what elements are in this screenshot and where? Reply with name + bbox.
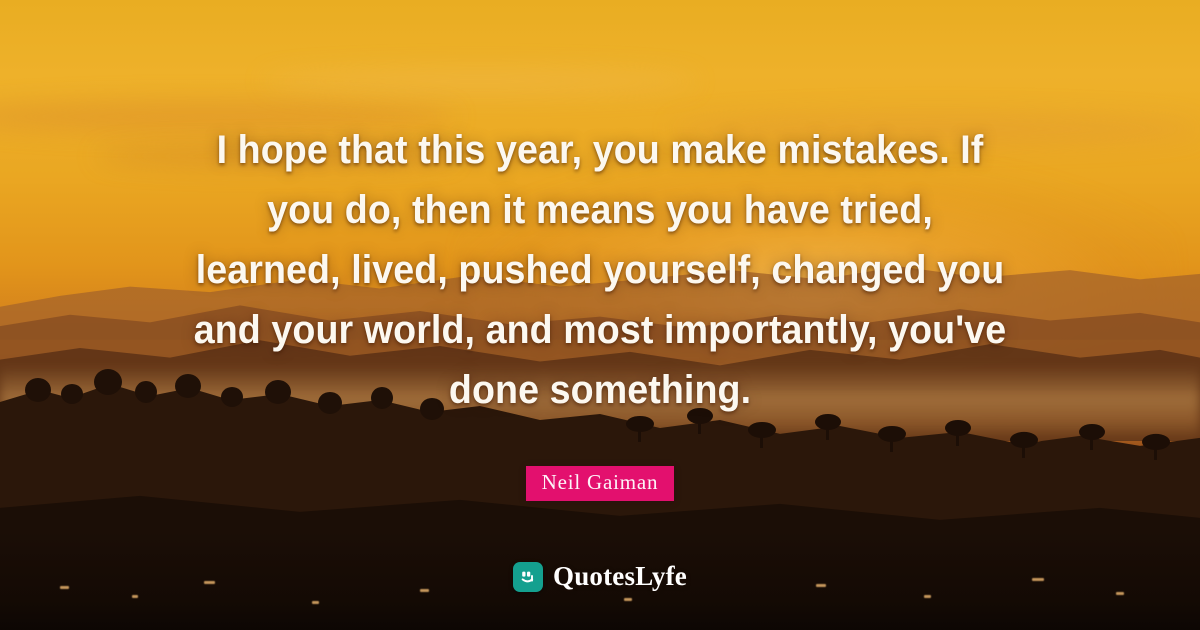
city-light — [924, 595, 931, 598]
quote-line-2: you do, then it means you have tried, — [126, 180, 1074, 240]
quote-line-5: done something. — [126, 360, 1074, 420]
city-light — [624, 598, 632, 601]
quote-line-4: and your world, and most importantly, yo… — [126, 300, 1074, 360]
city-light — [312, 601, 319, 604]
quote-card: I hope that this year, you make mistakes… — [0, 0, 1200, 630]
city-light — [1116, 592, 1124, 595]
brand-footer[interactable]: QuotesLyfe — [0, 561, 1200, 592]
quote-line-1: I hope that this year, you make mistakes… — [126, 120, 1074, 180]
quote-text: I hope that this year, you make mistakes… — [0, 120, 1200, 420]
quote-marks-icon — [513, 562, 543, 592]
quote-line-3: learned, lived, pushed yourself, changed… — [126, 240, 1074, 300]
brand-name: QuotesLyfe — [553, 561, 687, 592]
author-attribution: Neil Gaiman — [0, 466, 1200, 501]
author-name-badge[interactable]: Neil Gaiman — [526, 466, 675, 501]
city-light — [132, 595, 138, 598]
